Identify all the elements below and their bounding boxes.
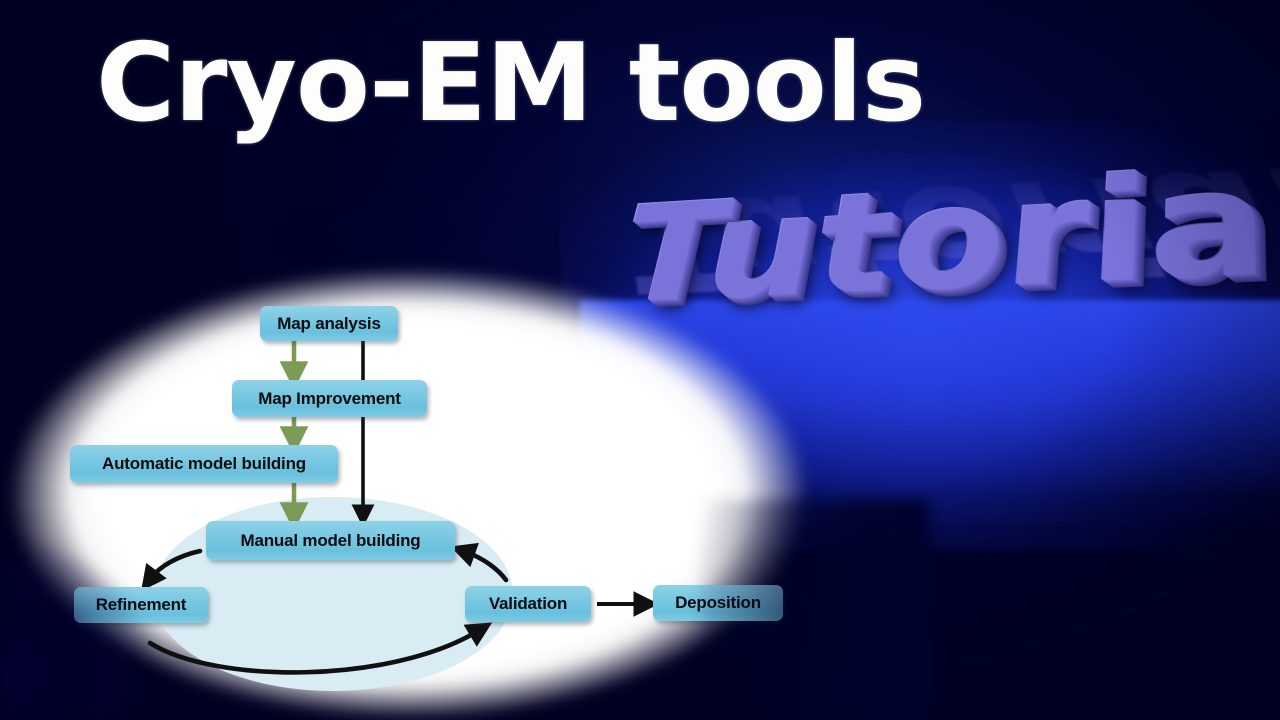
flow-node-map-analysis[interactable]: Map analysis [260, 306, 398, 341]
spotlight-fade-left [0, 545, 185, 720]
slide-canvas: Tutorial Tutorial [0, 0, 1280, 720]
spotlight-fade-right [700, 500, 930, 720]
flow-node-label: Manual model building [241, 531, 421, 551]
flow-node-map-improvement[interactable]: Map Improvement [232, 380, 427, 417]
flow-node-label: Validation [489, 594, 567, 614]
flow-node-automatic-model-building[interactable]: Automatic model building [70, 445, 338, 483]
flow-node-label: Automatic model building [102, 454, 306, 474]
flow-node-validation[interactable]: Validation [465, 586, 591, 622]
flow-node-manual-model-building[interactable]: Manual model building [206, 521, 455, 560]
flow-node-label: Map Improvement [258, 389, 400, 409]
flow-node-label: Map analysis [277, 314, 380, 334]
page-title: Cryo-EM tools [96, 26, 925, 143]
